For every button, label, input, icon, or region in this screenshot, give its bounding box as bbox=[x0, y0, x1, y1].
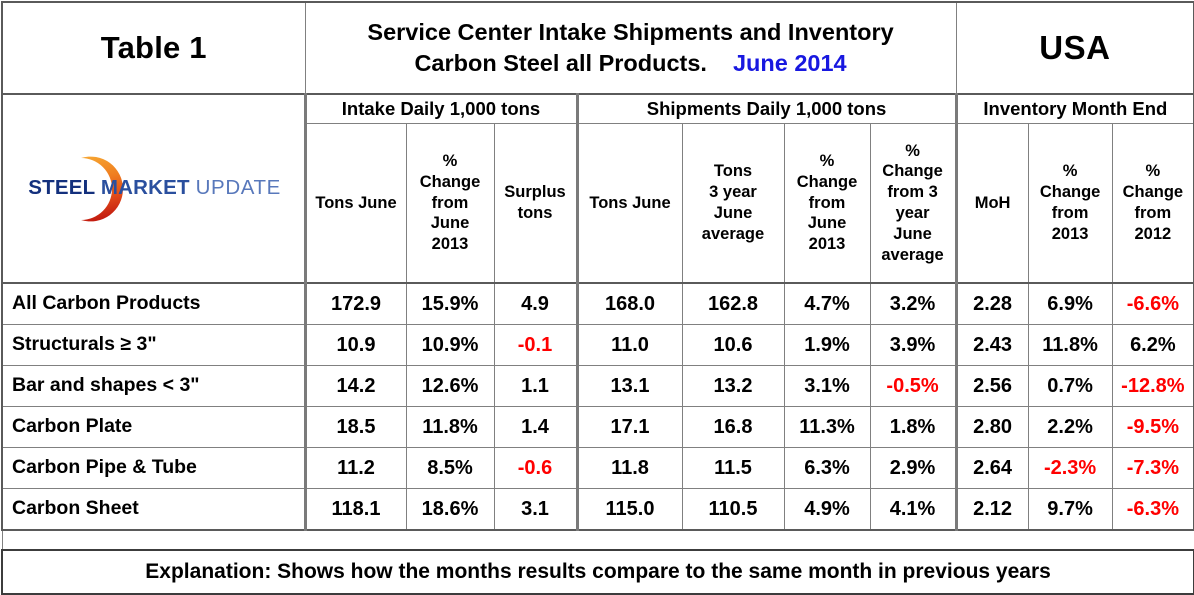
table-row: Carbon Sheet118.118.6%3.1115.0110.54.9%4… bbox=[2, 489, 1194, 531]
cell-ship_3yr_avg: 10.6 bbox=[682, 325, 784, 366]
cell-ship_tons: 115.0 bbox=[577, 489, 682, 531]
cell-inv_moh: 2.64 bbox=[956, 448, 1028, 489]
logo-word-steel: STEEL bbox=[28, 176, 95, 199]
cell-intake_surplus: -0.1 bbox=[494, 325, 577, 366]
cell-inv_moh: 2.12 bbox=[956, 489, 1028, 531]
cell-ship_3yr_avg: 162.8 bbox=[682, 283, 784, 325]
group-header-inventory: Inventory Month End bbox=[956, 94, 1194, 124]
row-label: Carbon Plate bbox=[2, 407, 305, 448]
cell-ship_pct_3yr: 2.9% bbox=[870, 448, 956, 489]
group-header-intake: Intake Daily 1,000 tons bbox=[305, 94, 577, 124]
main-title-line2: Carbon Steel all Products.June 2014 bbox=[312, 48, 950, 79]
data-table: Table 1 Service Center Intake Shipments … bbox=[1, 1, 1194, 595]
report-period: June 2014 bbox=[733, 50, 847, 76]
col-header-surplus-tons: Surplustons bbox=[494, 124, 577, 284]
row-label: All Carbon Products bbox=[2, 283, 305, 325]
cell-intake_surplus: 1.4 bbox=[494, 407, 577, 448]
cell-inv_moh: 2.80 bbox=[956, 407, 1028, 448]
col-header-inv-pct-2013: %Changefrom2013 bbox=[1028, 124, 1112, 284]
table-row: Carbon Plate18.511.8%1.417.116.811.3%1.8… bbox=[2, 407, 1194, 448]
cell-intake_tons: 172.9 bbox=[305, 283, 406, 325]
cell-intake_pct_2013: 12.6% bbox=[406, 366, 494, 407]
cell-inv_pct_2012: -6.6% bbox=[1112, 283, 1194, 325]
cell-inv_pct_2013: 11.8% bbox=[1028, 325, 1112, 366]
table-number: Table 1 bbox=[2, 2, 305, 94]
cell-ship_pct_2013: 3.1% bbox=[784, 366, 870, 407]
cell-inv_pct_2013: 0.7% bbox=[1028, 366, 1112, 407]
cell-ship_pct_2013: 11.3% bbox=[784, 407, 870, 448]
table-row: Carbon Pipe & Tube11.28.5%-0.611.811.56.… bbox=[2, 448, 1194, 489]
logo-word-update: UPDATE bbox=[196, 176, 281, 199]
cell-ship_pct_3yr: 4.1% bbox=[870, 489, 956, 531]
col-header-ship-pct-3yr: %Changefrom 3yearJuneaverage bbox=[870, 124, 956, 284]
cell-inv_pct_2012: -6.3% bbox=[1112, 489, 1194, 531]
cell-ship_tons: 11.0 bbox=[577, 325, 682, 366]
cell-inv_pct_2013: -2.3% bbox=[1028, 448, 1112, 489]
cell-inv_pct_2012: -12.8% bbox=[1112, 366, 1194, 407]
col-header-intake-pct-2013: %ChangefromJune2013 bbox=[406, 124, 494, 284]
cell-intake_pct_2013: 18.6% bbox=[406, 489, 494, 531]
cell-inv_pct_2012: -9.5% bbox=[1112, 407, 1194, 448]
table-row: Structurals ≥ 3"10.910.9%-0.111.010.61.9… bbox=[2, 325, 1194, 366]
group-header-shipments: Shipments Daily 1,000 tons bbox=[577, 94, 956, 124]
cell-ship_tons: 11.8 bbox=[577, 448, 682, 489]
logo-wordmark: STEEL MARKET UPDATE bbox=[28, 177, 278, 200]
cell-inv_pct_2013: 6.9% bbox=[1028, 283, 1112, 325]
title-row: Table 1 Service Center Intake Shipments … bbox=[2, 2, 1194, 94]
cell-inv_pct_2012: 6.2% bbox=[1112, 325, 1194, 366]
cell-ship_pct_3yr: 1.8% bbox=[870, 407, 956, 448]
table-row: All Carbon Products172.915.9%4.9168.0162… bbox=[2, 283, 1194, 325]
cell-inv_moh: 2.43 bbox=[956, 325, 1028, 366]
cell-inv_pct_2013: 2.2% bbox=[1028, 407, 1112, 448]
cell-intake_surplus: 4.9 bbox=[494, 283, 577, 325]
cell-ship_pct_2013: 4.7% bbox=[784, 283, 870, 325]
col-header-inv-moh: MoH bbox=[956, 124, 1028, 284]
col-header-ship-tons: Tons June bbox=[577, 124, 682, 284]
cell-ship_tons: 17.1 bbox=[577, 407, 682, 448]
cell-intake_surplus: -0.6 bbox=[494, 448, 577, 489]
cell-ship_pct_2013: 1.9% bbox=[784, 325, 870, 366]
cell-ship_tons: 13.1 bbox=[577, 366, 682, 407]
main-title-line1: Service Center Intake Shipments and Inve… bbox=[312, 17, 950, 48]
main-title-text2: Carbon Steel all Products. bbox=[414, 50, 707, 76]
main-title: Service Center Intake Shipments and Inve… bbox=[305, 2, 956, 94]
cell-ship_pct_2013: 4.9% bbox=[784, 489, 870, 531]
cell-intake_pct_2013: 11.8% bbox=[406, 407, 494, 448]
table-sheet: Table 1 Service Center Intake Shipments … bbox=[0, 1, 1194, 592]
cell-ship_pct_3yr: 3.9% bbox=[870, 325, 956, 366]
cell-inv_pct_2013: 9.7% bbox=[1028, 489, 1112, 531]
cell-intake_tons: 118.1 bbox=[305, 489, 406, 531]
country-label: USA bbox=[956, 2, 1194, 94]
cell-intake_tons: 11.2 bbox=[305, 448, 406, 489]
logo: STEEL MARKET UPDATE bbox=[28, 153, 278, 225]
cell-intake_surplus: 1.1 bbox=[494, 366, 577, 407]
cell-intake_pct_2013: 15.9% bbox=[406, 283, 494, 325]
cell-inv_moh: 2.28 bbox=[956, 283, 1028, 325]
cell-ship_pct_3yr: -0.5% bbox=[870, 366, 956, 407]
col-header-ship-pct-2013: %ChangefromJune2013 bbox=[784, 124, 870, 284]
row-label: Bar and shapes < 3" bbox=[2, 366, 305, 407]
cell-ship_tons: 168.0 bbox=[577, 283, 682, 325]
cell-ship_pct_2013: 6.3% bbox=[784, 448, 870, 489]
spacer-row bbox=[2, 530, 1194, 550]
cell-ship_3yr_avg: 16.8 bbox=[682, 407, 784, 448]
col-header-ship-3yr-avg: Tons3 yearJuneaverage bbox=[682, 124, 784, 284]
cell-intake_pct_2013: 10.9% bbox=[406, 325, 494, 366]
cell-intake_surplus: 3.1 bbox=[494, 489, 577, 531]
cell-inv_moh: 2.56 bbox=[956, 366, 1028, 407]
cell-intake_tons: 18.5 bbox=[305, 407, 406, 448]
cell-ship_3yr_avg: 11.5 bbox=[682, 448, 784, 489]
spacer-cell bbox=[2, 530, 1194, 550]
footer-row: Explanation: Shows how the months result… bbox=[2, 550, 1194, 594]
cell-intake_tons: 10.9 bbox=[305, 325, 406, 366]
row-label: Carbon Sheet bbox=[2, 489, 305, 531]
cell-ship_pct_3yr: 3.2% bbox=[870, 283, 956, 325]
cell-intake_tons: 14.2 bbox=[305, 366, 406, 407]
cell-intake_pct_2013: 8.5% bbox=[406, 448, 494, 489]
cell-ship_3yr_avg: 13.2 bbox=[682, 366, 784, 407]
cell-ship_3yr_avg: 110.5 bbox=[682, 489, 784, 531]
row-label: Carbon Pipe & Tube bbox=[2, 448, 305, 489]
table-row: Bar and shapes < 3"14.212.6%1.113.113.23… bbox=[2, 366, 1194, 407]
col-header-inv-pct-2012: %Changefrom2012 bbox=[1112, 124, 1194, 284]
col-header-intake-tons: Tons June bbox=[305, 124, 406, 284]
brand-logo-cell: STEEL MARKET UPDATE bbox=[2, 94, 305, 283]
cell-inv_pct_2012: -7.3% bbox=[1112, 448, 1194, 489]
column-group-row: STEEL MARKET UPDATE Intake Daily 1,000 t… bbox=[2, 94, 1194, 124]
row-label: Structurals ≥ 3" bbox=[2, 325, 305, 366]
explanation-text: Explanation: Shows how the months result… bbox=[2, 550, 1194, 594]
logo-word-market: MARKET bbox=[101, 176, 190, 199]
